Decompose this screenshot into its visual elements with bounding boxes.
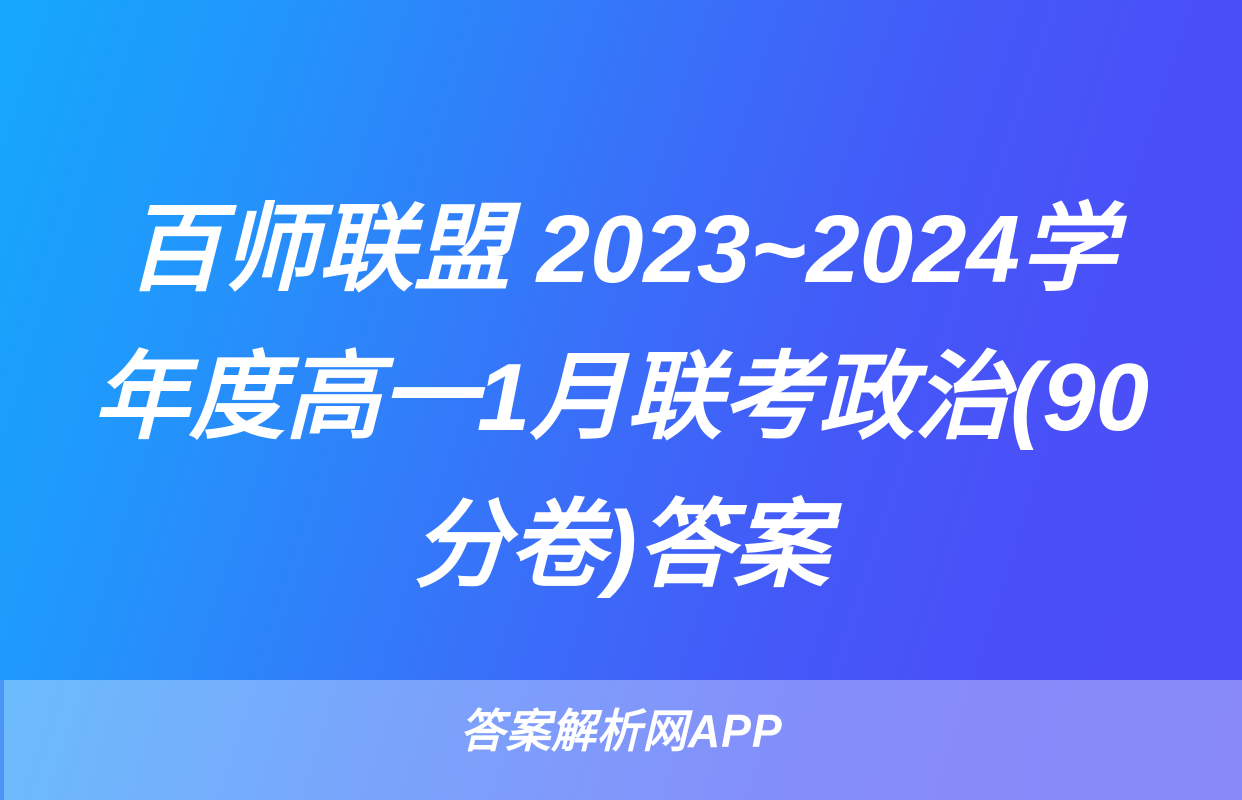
watermark-label: 答案解析网APP: [460, 703, 783, 759]
page-title: 百师联盟 2023~2024学 年度高一1月联考政治(90 分卷)答案: [0, 176, 1242, 620]
title-line-1: 百师联盟 2023~2024学: [60, 176, 1182, 324]
exam-answer-banner: 百师联盟 2023~2024学 年度高一1月联考政治(90 分卷)答案 答案解析…: [0, 0, 1242, 800]
watermark: 答案解析网APP: [0, 703, 1242, 759]
title-line-2: 年度高一1月联考政治(90: [60, 324, 1182, 472]
title-line-3: 分卷)答案: [60, 472, 1182, 620]
